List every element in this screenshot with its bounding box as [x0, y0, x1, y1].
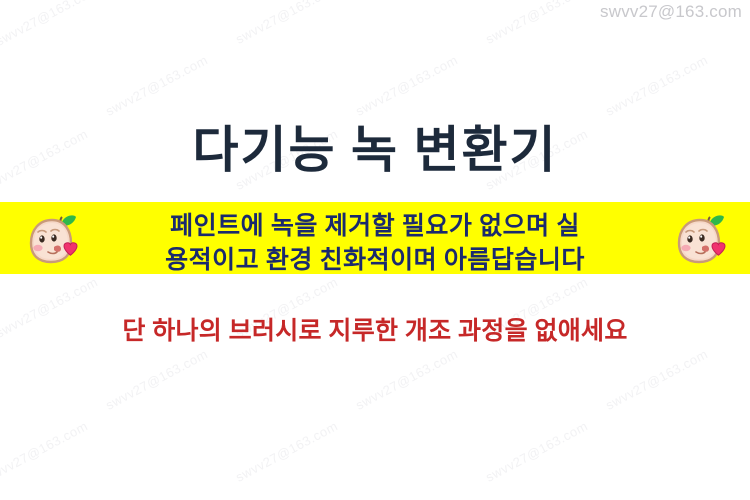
tagline: 단 하나의 브러시로 지루한 개조 과정을 없애세요	[0, 315, 750, 349]
email-watermark: swvv27@163.com	[600, 2, 742, 22]
background-watermark-tile: swvv27@163.com	[0, 0, 100, 49]
background-watermark-tile: swvv27@163.com	[603, 346, 710, 412]
background-watermark-tile: swvv27@163.com	[103, 346, 210, 412]
background-watermark-tile: swvv27@163.com	[353, 346, 460, 412]
kissing-face-with-heart-sticker	[26, 213, 78, 267]
kissing-face-with-heart-sticker	[674, 213, 726, 267]
background-watermark-tile: swvv27@163.com	[103, 52, 210, 118]
background-watermark-tile: swvv27@163.com	[483, 0, 590, 47]
background-watermark-tile: swvv27@163.com	[233, 418, 340, 484]
page-title: 다기능 녹 변환기	[0, 121, 750, 179]
background-watermark-tile: swvv27@163.com	[233, 0, 340, 47]
background-watermark-tile: swvv27@163.com	[483, 418, 590, 484]
banner-line-1: 페인트에 녹을 제거할 필요가 없으며 실	[0, 210, 750, 244]
background-watermark-tile: swvv27@163.com	[0, 418, 90, 484]
banner-text-block: 페인트에 녹을 제거할 필요가 없으며 실 용적이고 환경 친화적이며 아름답습…	[0, 210, 750, 278]
background-watermark-tile: swvv27@163.com	[353, 52, 460, 118]
banner-line-2: 용적이고 환경 친화적이며 아름답습니다	[0, 244, 750, 278]
background-watermark-tile: swvv27@163.com	[603, 52, 710, 118]
promo-poster: swvv27@163.com swvv27@163.com swvv27@163…	[0, 0, 750, 500]
